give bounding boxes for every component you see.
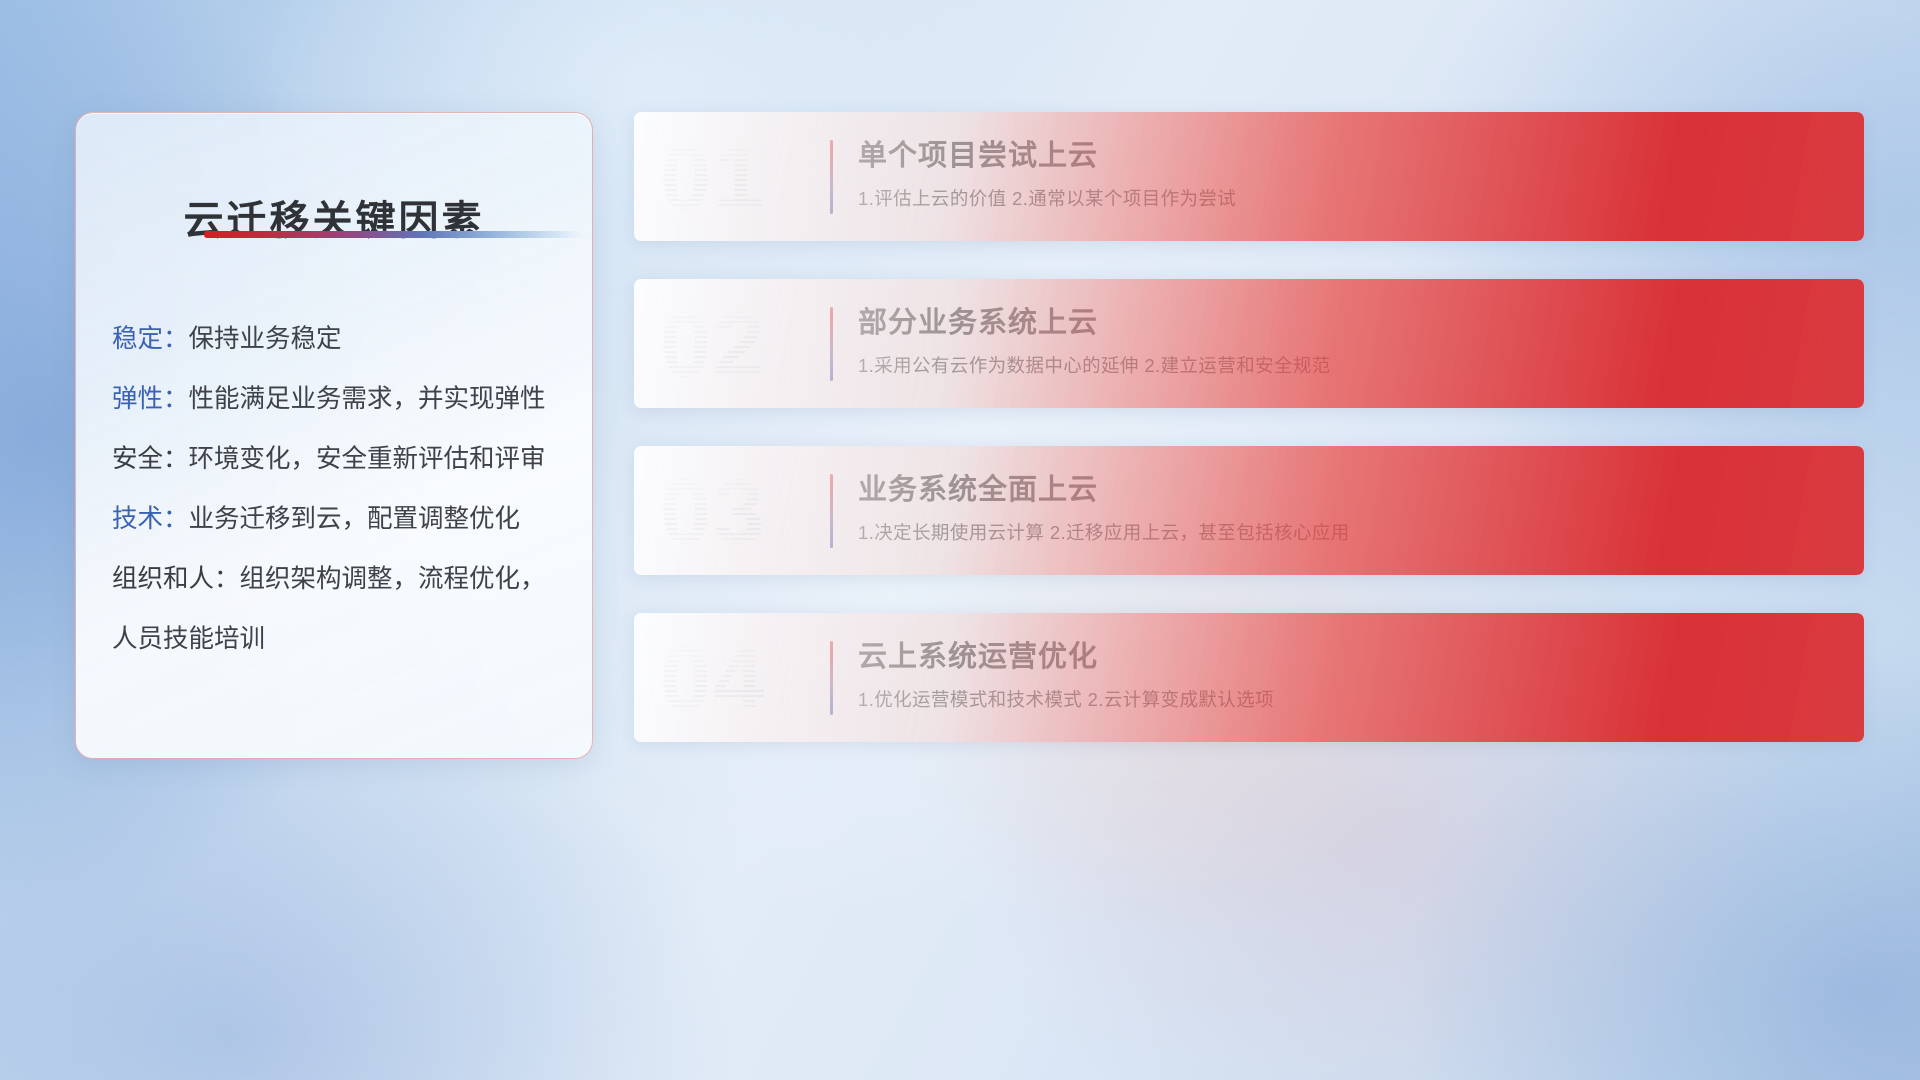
- stage-number-glyph: 02: [656, 296, 826, 392]
- card-title: 云上系统运营优化: [858, 637, 1836, 677]
- card-title: 部分业务系统上云: [858, 303, 1836, 343]
- key-factor-row: 弹性：性能满足业务需求，并实现弹性: [112, 369, 568, 429]
- svg-text:01: 01: [660, 129, 766, 225]
- key-factor-label: 技术：: [112, 505, 189, 533]
- card-description: 1.决定长期使用云计算 2.迁移应用上云，甚至包括核心应用: [858, 520, 1836, 546]
- svg-text:03: 03: [660, 463, 766, 559]
- card-body: 业务系统全面上云1.决定长期使用云计算 2.迁移应用上云，甚至包括核心应用: [858, 470, 1836, 546]
- card-divider-bar: [830, 641, 833, 715]
- key-factor-label: 组织和人：: [112, 565, 240, 593]
- key-factor-row: 技术：业务迁移到云，配置调整优化: [112, 489, 568, 549]
- key-factors-panel: 云迁移关键因素 稳定：保持业务稳定弹性：性能满足业务需求，并实现弹性安全：环境变…: [75, 112, 593, 759]
- card-title: 业务系统全面上云: [858, 470, 1836, 510]
- stage-card[interactable]: 03业务系统全面上云1.决定长期使用云计算 2.迁移应用上云，甚至包括核心应用: [634, 446, 1864, 575]
- key-factor-row: 稳定：保持业务稳定: [112, 309, 568, 369]
- title-underline-gradient: [204, 231, 582, 238]
- key-factor-label: 稳定：: [112, 325, 189, 353]
- key-factor-label: 弹性：: [112, 385, 189, 413]
- card-description: 1.评估上云的价值 2.通常以某个项目作为尝试: [858, 186, 1836, 212]
- card-divider-bar: [830, 307, 833, 381]
- key-factors-list: 稳定：保持业务稳定弹性：性能满足业务需求，并实现弹性安全：环境变化，安全重新评估…: [112, 309, 568, 669]
- stage-cards-list: 01单个项目尝试上云1.评估上云的价值 2.通常以某个项目作为尝试02部分业务系…: [634, 112, 1864, 780]
- key-factor-text: 业务迁移到云，配置调整优化: [189, 505, 521, 533]
- card-body: 部分业务系统上云1.采用公有云作为数据中心的延伸 2.建立运营和安全规范: [858, 303, 1836, 379]
- card-body: 云上系统运营优化1.优化运营模式和技术模式 2.云计算变成默认选项: [858, 637, 1836, 713]
- card-description: 1.采用公有云作为数据中心的延伸 2.建立运营和安全规范: [858, 353, 1836, 379]
- stage-card[interactable]: 02部分业务系统上云1.采用公有云作为数据中心的延伸 2.建立运营和安全规范: [634, 279, 1864, 408]
- stage-card[interactable]: 01单个项目尝试上云1.评估上云的价值 2.通常以某个项目作为尝试: [634, 112, 1864, 241]
- key-factor-label: 安全：: [112, 445, 189, 473]
- key-factor-text: 性能满足业务需求，并实现弹性: [189, 385, 546, 413]
- card-divider-bar: [830, 474, 833, 548]
- card-title: 单个项目尝试上云: [858, 136, 1836, 176]
- stage-number-glyph: 04: [656, 630, 826, 726]
- card-description: 1.优化运营模式和技术模式 2.云计算变成默认选项: [858, 687, 1836, 713]
- key-factor-text: 保持业务稳定: [189, 325, 342, 353]
- key-factor-row: 组织和人：组织架构调整，流程优化，人员技能培训: [112, 549, 568, 669]
- svg-text:02: 02: [660, 296, 766, 392]
- card-body: 单个项目尝试上云1.评估上云的价值 2.通常以某个项目作为尝试: [858, 136, 1836, 212]
- key-factor-row: 安全：环境变化，安全重新评估和评审: [112, 429, 568, 489]
- svg-text:04: 04: [660, 630, 766, 726]
- stage-card[interactable]: 04云上系统运营优化1.优化运营模式和技术模式 2.云计算变成默认选项: [634, 613, 1864, 742]
- stage-number-glyph: 01: [656, 129, 826, 225]
- stage-number-glyph: 03: [656, 463, 826, 559]
- key-factor-text: 环境变化，安全重新评估和评审: [189, 445, 546, 473]
- card-divider-bar: [830, 140, 833, 214]
